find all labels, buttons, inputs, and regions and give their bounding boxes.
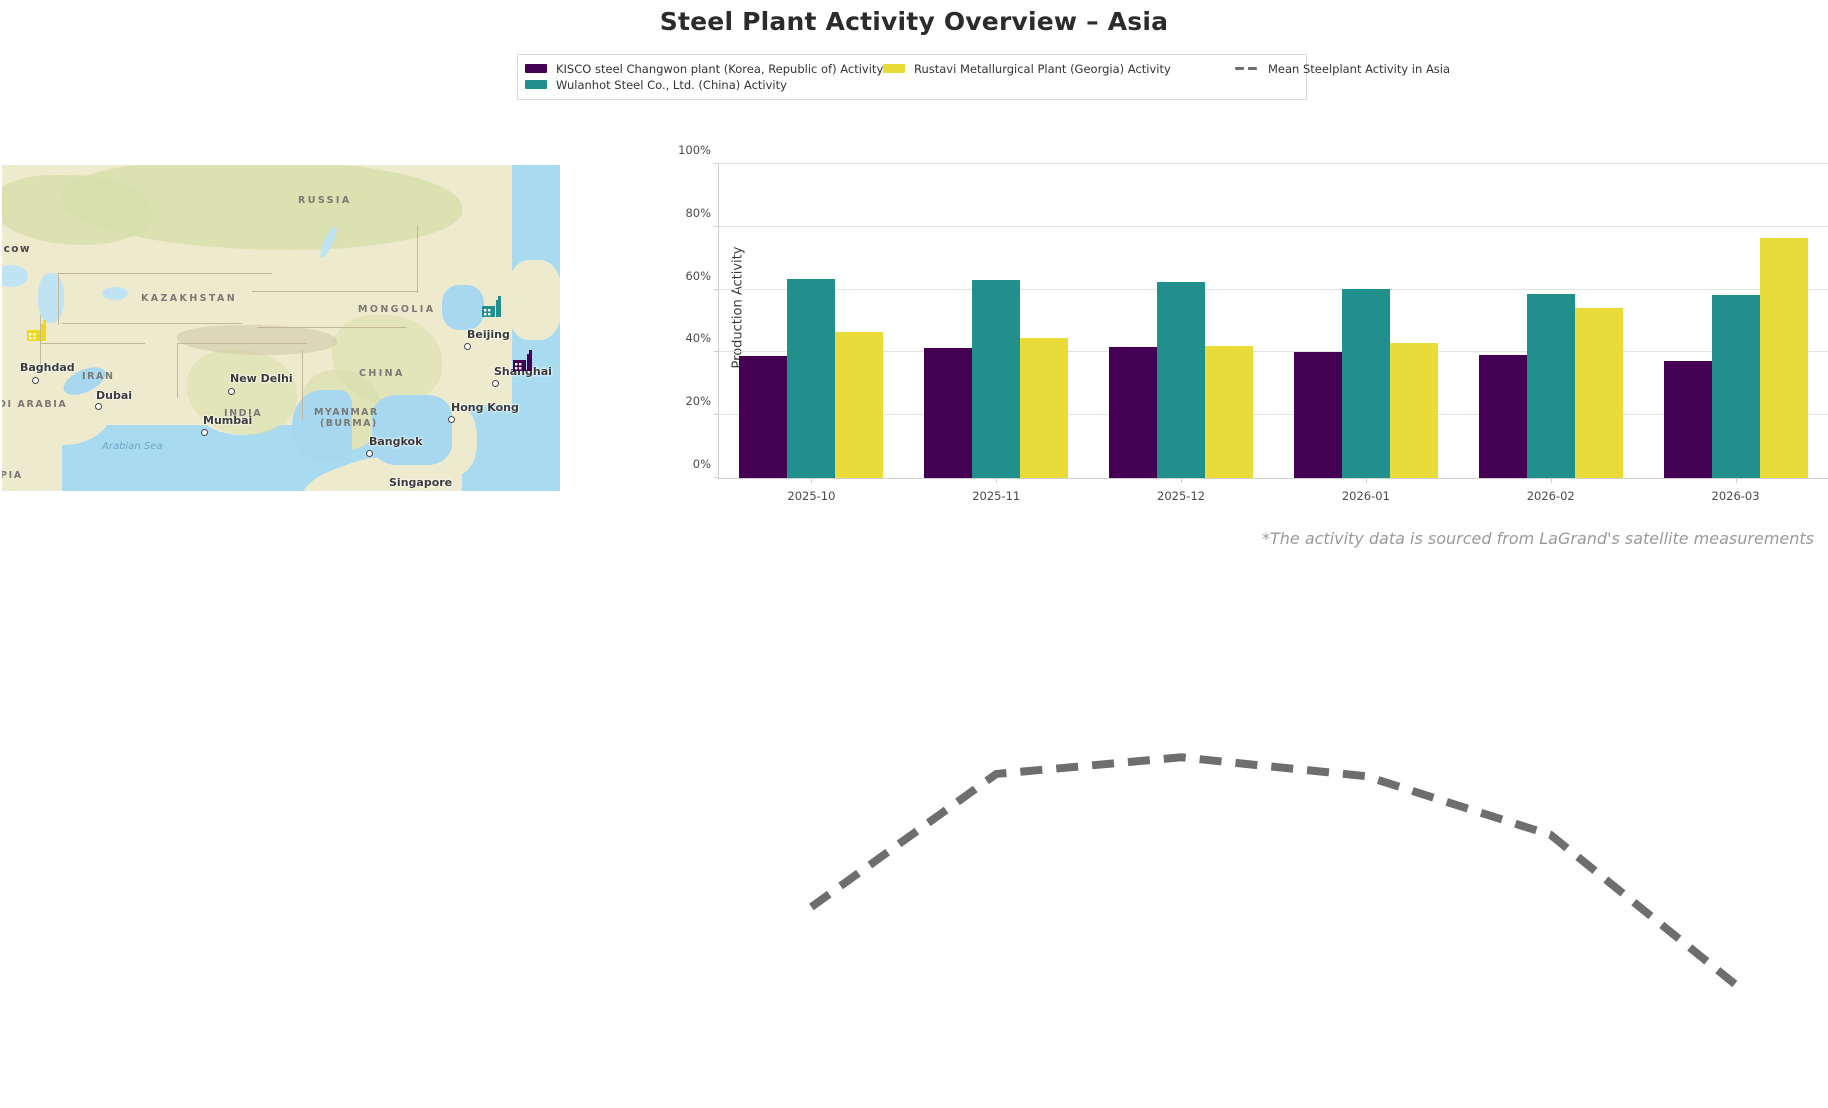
map-region-label-iran: IRAN [82,371,115,382]
x-axis-tick-label: 2025-12 [1157,489,1205,503]
map-south-china-sea [372,395,452,465]
bar-21908C[interactable] [787,279,835,478]
city-dot-dubai [95,403,102,410]
map-border-kazakhstan-w [58,273,59,325]
bar-group: 2026-03 [1643,164,1828,478]
bar-21908C[interactable] [972,280,1020,478]
y-axis-tick-label: 100% [678,143,711,157]
plot-area: 0%20%40%60%80%100% 2025-102025-112025-12… [718,164,1828,479]
map-border-russia-ne [417,225,418,293]
map-landmass-japan [507,260,560,340]
legend-label-mean: Mean Steelplant Activity in Asia [1268,62,1450,76]
bar-440154[interactable] [1664,361,1712,478]
bar-group: 2026-01 [1273,164,1458,478]
bar-E8DB3A[interactable] [1575,308,1623,478]
y-axis-tick-label: 80% [685,206,711,220]
factory-icon-kisco[interactable] [512,350,538,372]
city-label-singapore: Singapore [389,476,452,489]
chart-legend: KISCO steel Changwon plant (Korea, Repub… [517,54,1307,100]
bar-21908C[interactable] [1712,295,1760,478]
asia-map[interactable]: RUSSIA KAZAKHSTAN MONGOLIA CHINA IRAN IN… [2,165,560,491]
map-sea-label-arabian-sea: Arabian Sea [102,441,162,452]
legend-item-kisco[interactable]: KISCO steel Changwon plant (Korea, Repub… [525,61,883,76]
city-label-dubai: Dubai [96,389,132,402]
x-axis-tick-mark [1366,478,1367,483]
city-dot-hong-kong [448,416,455,423]
bar-440154[interactable] [739,356,787,478]
map-border-mongolia [252,291,417,292]
page-title: Steel Plant Activity Overview – Asia [0,0,1828,42]
map-canvas: RUSSIA KAZAKHSTAN MONGOLIA CHINA IRAN IN… [2,165,560,491]
map-region-label-moscow-partial: scow [2,243,31,255]
x-axis-tick-mark [996,478,997,483]
y-axis-tick-label: 0% [693,457,711,471]
map-region-label-ethiopia-partial: PIA [2,470,23,481]
bar-E8DB3A[interactable] [1205,346,1253,479]
bar-21908C[interactable] [1342,289,1390,478]
map-border-iran [40,343,145,344]
factory-icon-wulanhot[interactable] [481,296,507,318]
city-label-hong-kong: Hong Kong [451,401,519,414]
y-axis-tick-label: 60% [685,269,711,283]
legend-label-rustavi: Rustavi Metallurgical Plant (Georgia) Ac… [914,62,1171,76]
activity-bar-chart[interactable]: Production Activity 0%20%40%60%80%100% 2… [660,150,1828,510]
bar-group: 2025-11 [904,164,1089,478]
map-border-mongolia-s [257,327,407,328]
bar-440154[interactable] [924,348,972,478]
legend-swatch-rustavi [883,64,905,73]
city-label-new-delhi: New Delhi [230,372,293,385]
legend-item-wulanhot[interactable]: Wulanhot Steel Co., Ltd. (China) Activit… [525,77,883,92]
map-caspian-sea [38,273,64,323]
city-dot-new-delhi [228,388,235,395]
bar-groups: 2025-102025-112025-122026-012026-022026-… [719,164,1828,478]
map-region-label-myanmar: MYANMAR [314,407,379,418]
city-label-bangkok: Bangkok [369,435,422,448]
city-dot-bangkok [366,450,373,457]
city-dot-mumbai [201,429,208,436]
map-border-kazakhstan-s [62,323,242,324]
x-axis-tick-mark [811,478,812,483]
city-label-beijing: Beijing [467,328,510,341]
map-border-india-w [177,343,178,398]
y-axis-tick-label: 40% [685,331,711,345]
x-axis-tick-label: 2025-11 [972,489,1020,503]
city-label-baghdad: Baghdad [20,361,75,374]
bar-group: 2025-10 [719,164,904,478]
map-region-label-mongolia: MONGOLIA [358,304,436,315]
legend-swatch-kisco [525,64,547,73]
legend-label-kisco: KISCO steel Changwon plant (Korea, Repub… [556,62,883,76]
legend-item-rustavi[interactable]: Rustavi Metallurgical Plant (Georgia) Ac… [883,61,1171,76]
mean-line-path [811,757,1735,984]
bar-440154[interactable] [1479,355,1527,478]
bar-21908C[interactable] [1527,294,1575,478]
x-axis-tick-label: 2025-10 [787,489,835,503]
y-axis-tick-label: 20% [685,394,711,408]
map-region-label-china: CHINA [359,368,405,379]
x-axis-tick-mark [1181,478,1182,483]
factory-icon-rustavi[interactable] [26,320,52,342]
map-region-label-kazakhstan: KAZAKHSTAN [141,293,237,304]
x-axis-tick-label: 2026-02 [1527,489,1575,503]
map-region-label-russia: RUSSIA [298,195,352,206]
bar-group: 2026-02 [1458,164,1643,478]
bar-21908C[interactable] [1157,282,1205,478]
city-dot-shanghai [492,380,499,387]
bar-group: 2025-12 [1089,164,1274,478]
bar-440154[interactable] [1109,347,1157,478]
footnote: *The activity data is sourced from LaGra… [1262,529,1814,548]
legend-swatch-wulanhot [525,80,547,89]
bar-E8DB3A[interactable] [835,332,883,478]
x-axis-tick-mark [1551,478,1552,483]
city-dot-beijing-pos [464,343,471,350]
map-landmass-africa [2,440,62,491]
legend-label-wulanhot: Wulanhot Steel Co., Ltd. (China) Activit… [556,78,787,92]
map-region-label-saudi-arabia-partial: DI ARABIA [2,399,67,410]
x-axis-tick-label: 2026-03 [1712,489,1760,503]
map-border-myanmar [302,350,303,420]
bar-E8DB3A[interactable] [1390,343,1438,478]
legend-dashed-line-icon [1235,63,1259,74]
bar-E8DB3A[interactable] [1020,338,1068,478]
bar-E8DB3A[interactable] [1760,238,1808,478]
legend-item-mean[interactable]: Mean Steelplant Activity in Asia [1235,61,1450,76]
x-axis-tick-label: 2026-01 [1342,489,1390,503]
map-yellow-sea [442,285,484,330]
city-dot-baghdad [32,377,39,384]
map-region-label-burma: (BURMA) [320,418,378,429]
map-border-china-india [177,343,307,344]
city-label-mumbai: Mumbai [203,414,252,427]
map-aral-sea [102,287,128,300]
map-border-kazakhstan-n [57,273,272,274]
bar-440154[interactable] [1294,352,1342,478]
x-axis-tick-mark [1736,478,1737,483]
